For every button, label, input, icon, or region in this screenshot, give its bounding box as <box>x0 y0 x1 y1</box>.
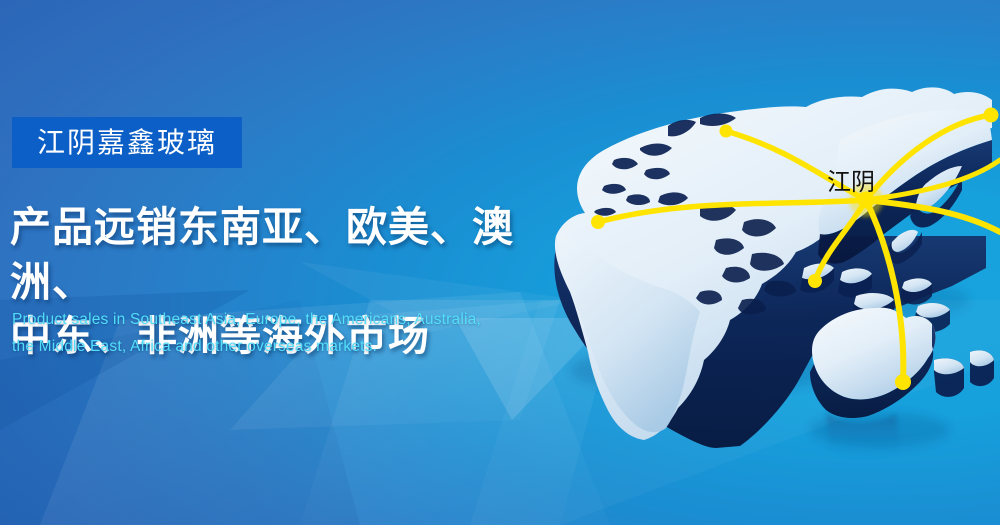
australia-reflection <box>826 412 900 460</box>
node-northeast <box>984 108 999 123</box>
brand-badge-label: 江阴嘉鑫玻璃 <box>37 129 217 157</box>
node-west-africa <box>591 215 605 229</box>
route-to-europe-north <box>726 131 866 200</box>
subtitle-line-1: Product sales in Southeast Asia, Europe,… <box>12 311 481 328</box>
promo-banner: 江阴 江阴嘉鑫玻璃 产品远销东南亚、欧美、澳洲、 中东、非洲等海外市场 Prod… <box>0 0 1000 525</box>
brand-badge: 江阴嘉鑫玻璃 <box>12 117 242 168</box>
landmass-europe-detail <box>594 114 736 216</box>
subtitle-line-2: the Middle East, Africa and other overse… <box>12 334 572 361</box>
shipping-routes <box>598 115 1000 382</box>
landmass-asia-relief <box>696 203 796 315</box>
map-reflections <box>570 280 970 448</box>
hub-label: 江阴 <box>827 168 875 196</box>
headline-line-1: 产品远销东南亚、欧美、澳洲、 <box>10 203 514 306</box>
landmass-new-zealand <box>934 350 994 397</box>
route-to-east-offscreen-2 <box>866 160 1000 200</box>
route-to-northeast <box>866 115 991 200</box>
landmass-eurasia-africa <box>555 87 992 440</box>
route-to-southeast-asia <box>815 200 866 281</box>
landmass-australia <box>812 308 935 400</box>
landmass-east-asia <box>818 109 992 234</box>
node-europe-north <box>720 125 733 138</box>
landmass-japan-korea <box>887 166 962 264</box>
route-to-australia <box>866 200 903 382</box>
landmass-east-asia-extrusion <box>818 140 992 264</box>
landmass-australia-extrusion <box>810 324 935 418</box>
hub-node <box>858 192 875 209</box>
subtitle: Product sales in Southeast Asia, Europe,… <box>12 307 572 361</box>
landmass-maritime-sea <box>800 264 950 333</box>
node-australia <box>895 374 911 390</box>
landmass-eurasia-africa-extrusion <box>554 232 986 448</box>
node-southeast-asia <box>808 274 822 288</box>
route-to-west-africa <box>598 200 866 222</box>
map-hub <box>849 183 883 217</box>
hub-glow <box>849 183 883 217</box>
route-to-east-offscreen <box>866 200 1000 232</box>
route-nodes <box>591 108 999 391</box>
